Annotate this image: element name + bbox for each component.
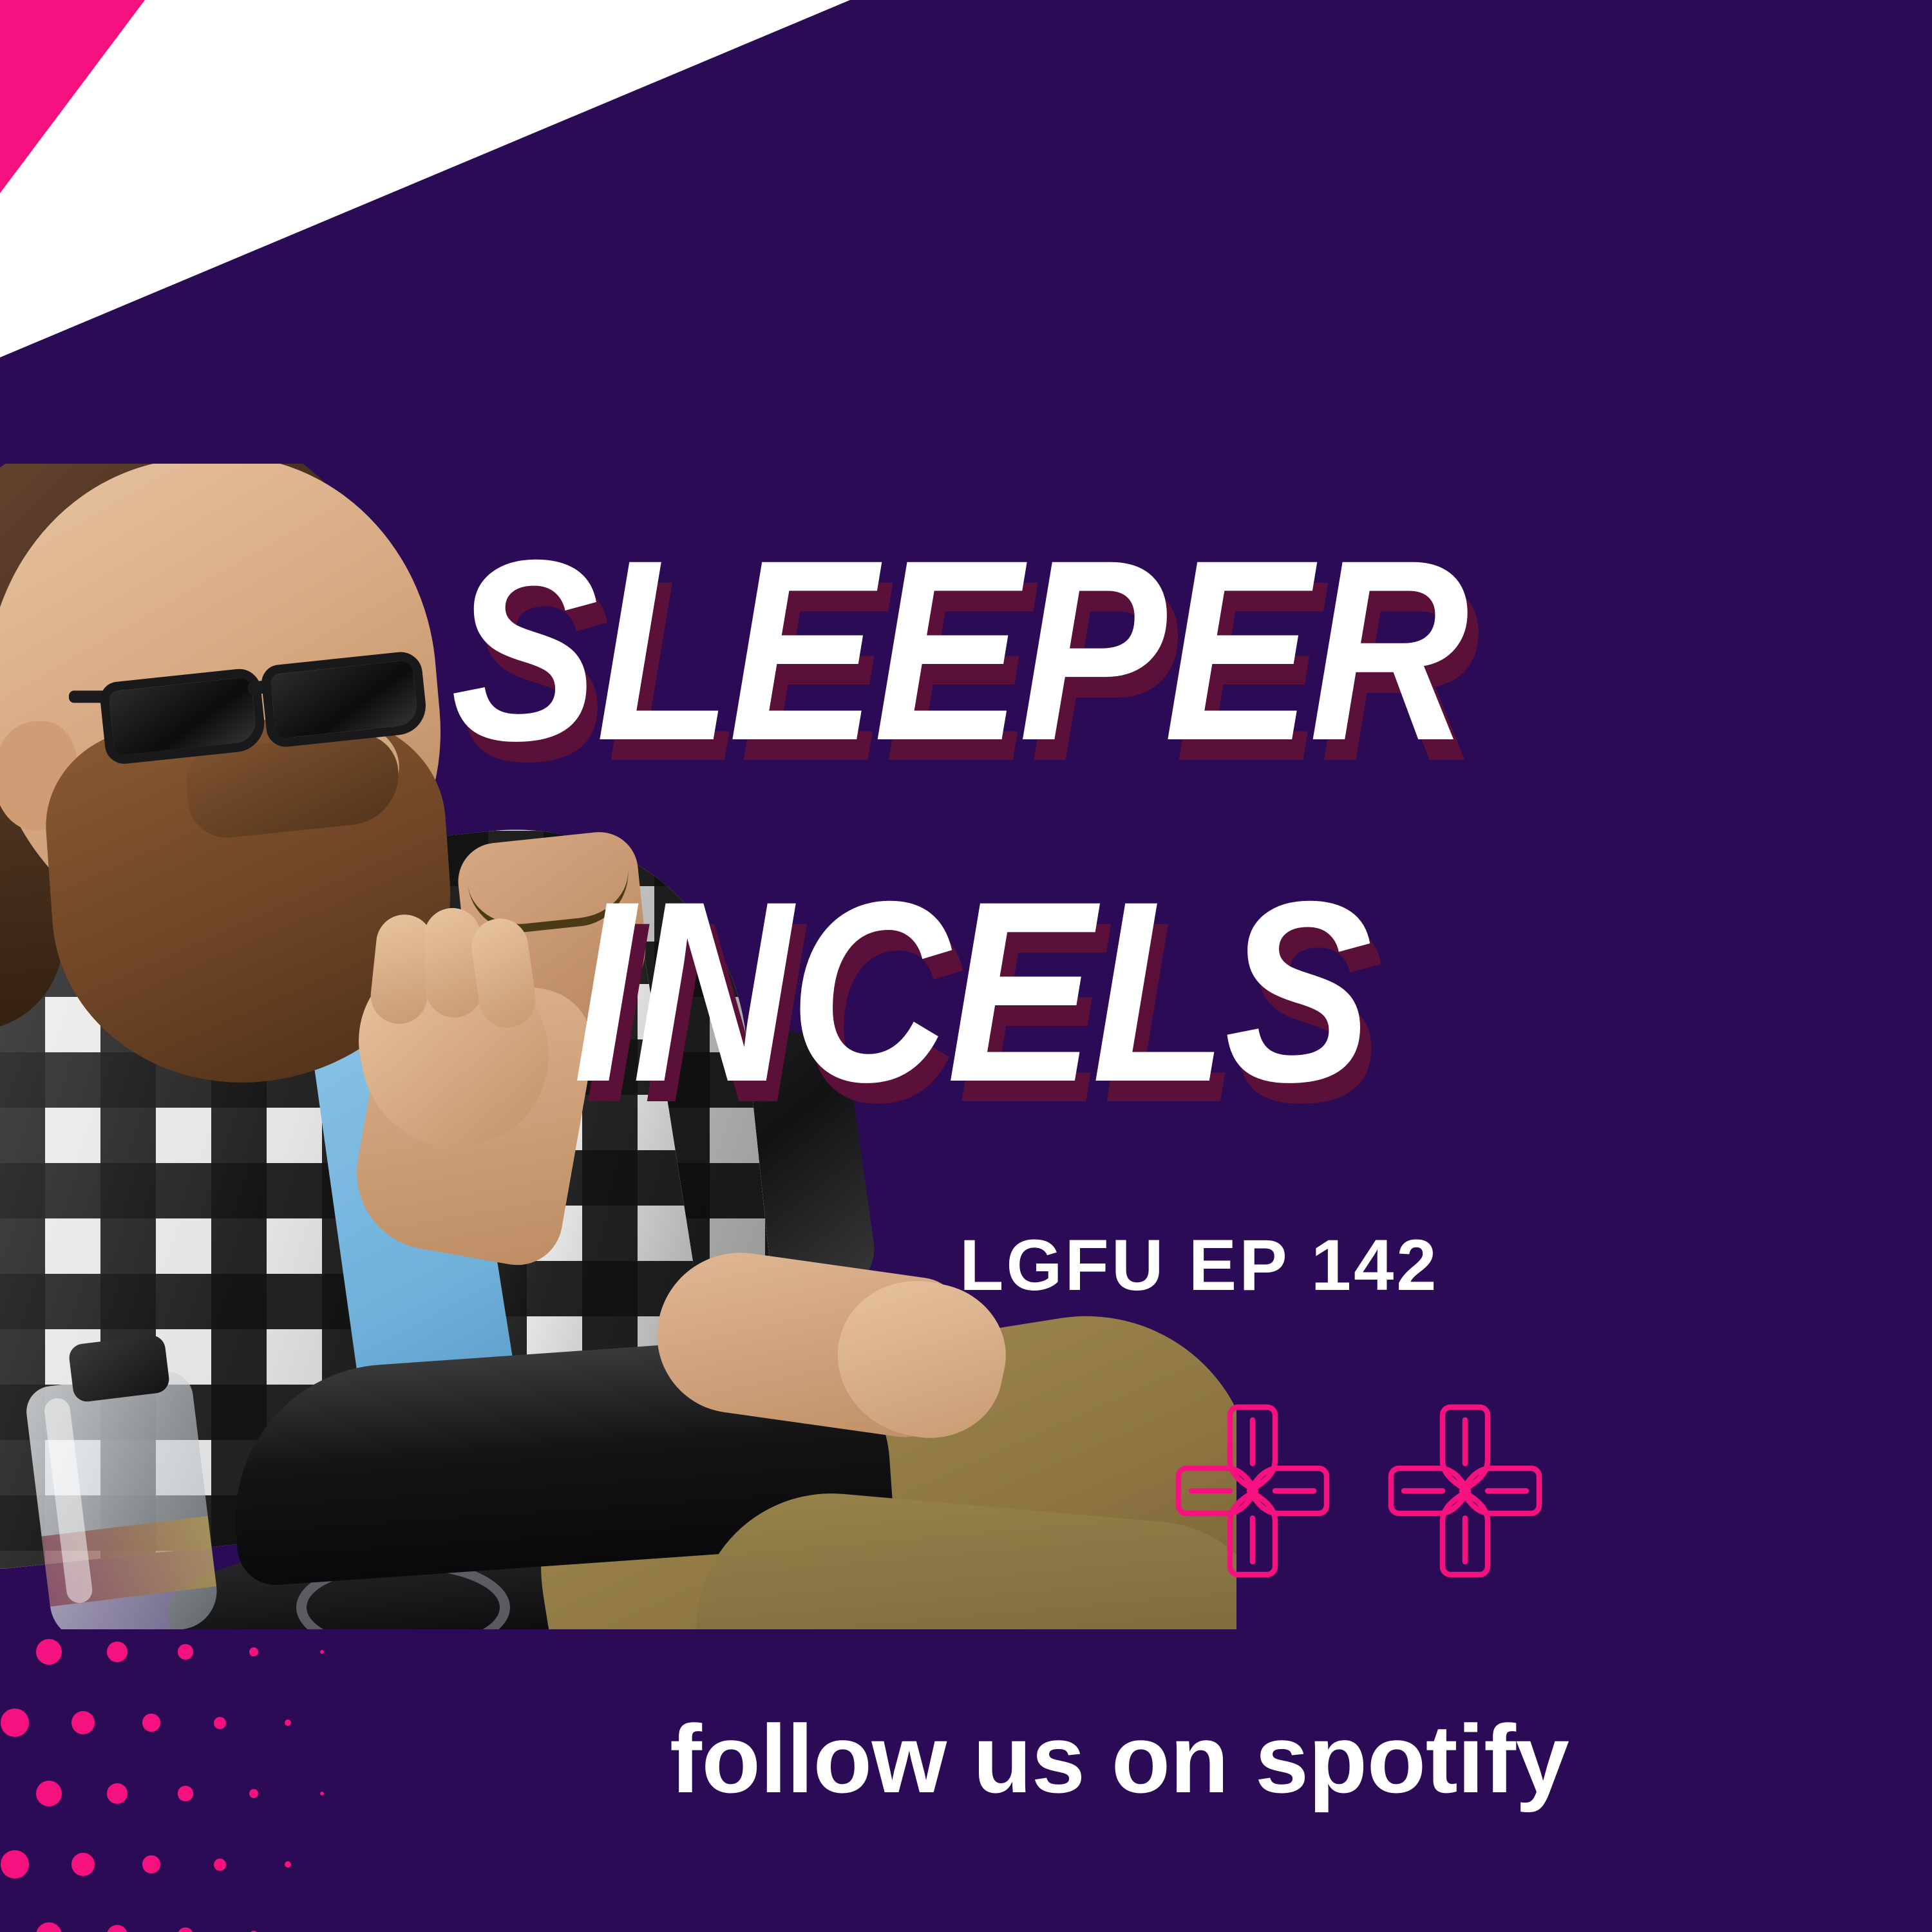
halftone-dot <box>214 1859 226 1871</box>
halftone-dot-pattern <box>0 1639 489 1932</box>
halftone-dot <box>178 1644 193 1659</box>
four-petal-cross-ornament-icon <box>1385 1397 1546 1584</box>
halftone-dot <box>178 1927 193 1932</box>
follow-us-text: follow us on spotify <box>670 1703 1569 1815</box>
halftone-dot <box>249 1647 259 1657</box>
bottle-cap <box>68 1334 171 1403</box>
halftone-dot <box>36 1781 62 1806</box>
four-petal-cross-ornament-icon <box>1172 1397 1333 1584</box>
halftone-dot <box>71 1711 95 1734</box>
halftone-dot <box>285 1861 292 1868</box>
halftone-dot <box>142 1855 160 1873</box>
halftone-dot <box>1 1709 29 1737</box>
sunglasses-right-lens <box>260 650 429 748</box>
halftone-dot <box>178 1786 193 1801</box>
halftone-dot <box>320 1792 325 1796</box>
halftone-dot <box>214 1717 226 1729</box>
episode-subtitle: LGFU EP 142 <box>960 1224 1439 1307</box>
halftone-dot <box>107 1925 127 1932</box>
water-bottle <box>24 1369 222 1629</box>
ornament-row <box>1172 1397 1546 1584</box>
halftone-dot <box>142 1714 160 1731</box>
halftone-dot <box>249 1789 259 1799</box>
halftone-dot <box>1 1850 29 1879</box>
host-photo <box>0 464 1236 1629</box>
halftone-dot <box>36 1922 62 1932</box>
halftone-dot <box>285 1719 292 1727</box>
podcast-cover-art: SLEEPER INCELS LGFU EP 142 <box>0 0 1932 1932</box>
halftone-dot <box>107 1642 127 1662</box>
halftone-dot <box>320 1650 325 1654</box>
sunglasses-left-lens <box>99 667 267 766</box>
halftone-dot <box>107 1783 127 1803</box>
halftone-dot <box>36 1639 62 1665</box>
halftone-dot <box>71 1853 95 1876</box>
